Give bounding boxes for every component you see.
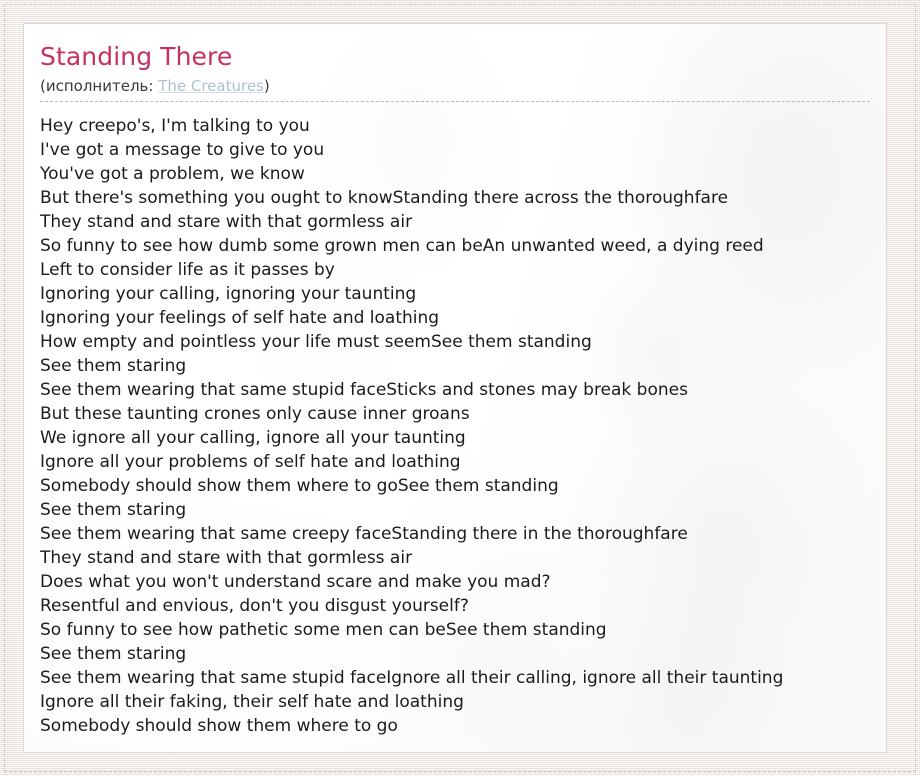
page-title: Standing There xyxy=(40,42,886,72)
lyrics-body: Hey creepo's, I'm talking to youI've got… xyxy=(40,114,886,738)
artist-byline: (исполнитель: The Creatures) xyxy=(40,76,886,96)
lyric-line: We ignore all your calling, ignore all y… xyxy=(40,426,886,450)
lyrics-page: Standing There (исполнитель: The Creatur… xyxy=(0,0,920,776)
lyric-line: Hey creepo's, I'm talking to you xyxy=(40,114,886,138)
lyric-line: See them staring xyxy=(40,498,886,522)
lyric-line: Somebody should show them where to go xyxy=(40,714,886,738)
lyric-line: See them staring xyxy=(40,642,886,666)
lyric-line: Somebody should show them where to goSee… xyxy=(40,474,886,498)
lyric-line: See them wearing that same stupid faceSt… xyxy=(40,378,886,402)
lyric-line: I've got a message to give to you xyxy=(40,138,886,162)
lyric-line: How empty and pointless your life must s… xyxy=(40,330,886,354)
artist-link[interactable]: The Creatures xyxy=(158,77,264,95)
lyric-line: See them staring xyxy=(40,354,886,378)
lyric-line: See them wearing that same creepy faceSt… xyxy=(40,522,886,546)
lyric-line: So funny to see how dumb some grown men … xyxy=(40,234,886,258)
lyric-line: Ignore all their faking, their self hate… xyxy=(40,690,886,714)
lyric-line: They stand and stare with that gormless … xyxy=(40,546,886,570)
lyric-line: So funny to see how pathetic some men ca… xyxy=(40,618,886,642)
lyric-line: Resentful and envious, don't you disgust… xyxy=(40,594,886,618)
lyric-line: Ignoring your calling, ignoring your tau… xyxy=(40,282,886,306)
lyric-line: They stand and stare with that gormless … xyxy=(40,210,886,234)
byline-prefix-label: (исполнитель: xyxy=(40,77,158,95)
panel-content: Standing There (исполнитель: The Creatur… xyxy=(24,24,886,752)
lyric-line: But these taunting crones only cause inn… xyxy=(40,402,886,426)
header-divider xyxy=(40,101,870,102)
lyric-line: But there's something you ought to knowS… xyxy=(40,186,886,210)
lyric-line: You've got a problem, we know xyxy=(40,162,886,186)
lyrics-panel: Standing There (исполнитель: The Creatur… xyxy=(24,24,886,752)
lyric-line: Does what you won't understand scare and… xyxy=(40,570,886,594)
byline-suffix-label: ) xyxy=(264,77,270,95)
lyric-line: Left to consider life as it passes by xyxy=(40,258,886,282)
lyric-line: Ignoring your feelings of self hate and … xyxy=(40,306,886,330)
lyric-line: Ignore all your problems of self hate an… xyxy=(40,450,886,474)
lyric-line: See them wearing that same stupid faceIg… xyxy=(40,666,886,690)
